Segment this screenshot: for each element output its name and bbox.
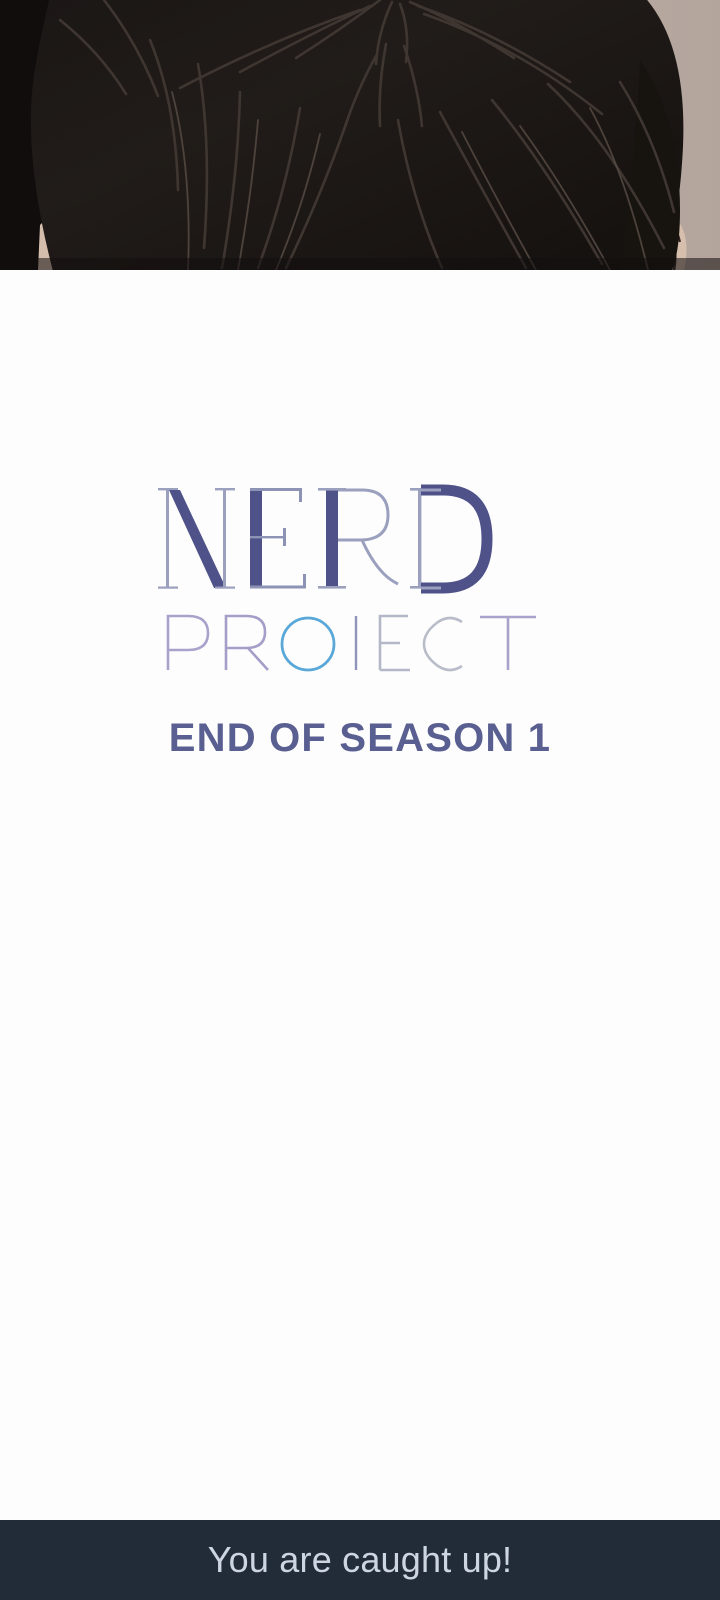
episode-page-sheet: [0, 270, 720, 1520]
logo-word-project: [168, 616, 536, 670]
nerd-project-logo: [0, 470, 720, 700]
caught-up-bar[interactable]: You are caught up!: [0, 1520, 720, 1600]
logo-word-nerd: [158, 488, 487, 589]
end-of-season-card: END OF SEASON 1: [0, 470, 720, 758]
comic-panel-hair-closeup[interactable]: [0, 0, 720, 270]
caught-up-label: You are caught up!: [208, 1542, 513, 1578]
episode-viewer: END OF SEASON 1 You are caught up!: [0, 0, 720, 1600]
end-of-season-label: END OF SEASON 1: [0, 718, 720, 758]
